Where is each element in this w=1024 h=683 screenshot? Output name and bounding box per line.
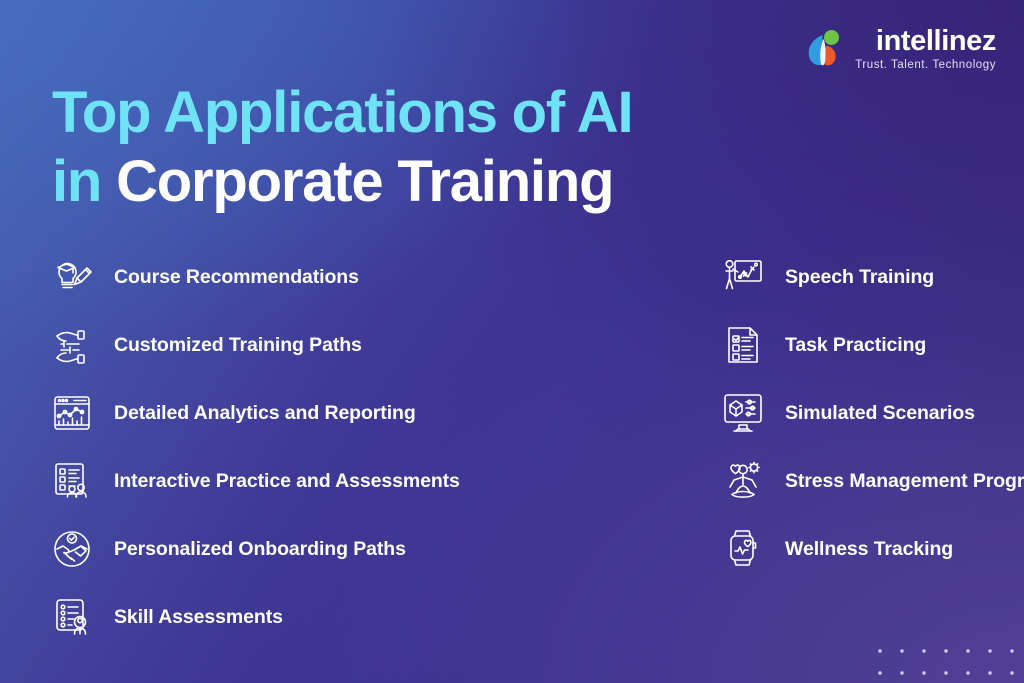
logo-text-block: intellinez Trust. Talent. Technology: [855, 27, 996, 72]
list-item-customized-training-paths[interactable]: Customized Training Paths: [44, 311, 560, 379]
right-column: Speech Training Task: [560, 243, 1000, 651]
list-item-personalized-onboarding-paths[interactable]: Personalized Onboarding Paths: [44, 515, 560, 583]
analytics-dashboard-icon: [44, 385, 100, 441]
title-line-2-prefix: in: [52, 149, 101, 214]
list-item-label: Personalized Onboarding Paths: [114, 538, 406, 561]
list-item-detailed-analytics-and-reporting[interactable]: Detailed Analytics and Reporting: [44, 379, 560, 447]
list-item-interactive-practice-and-assessments[interactable]: Interactive Practice and Assessments: [44, 447, 560, 515]
list-item-label: Simulated Scenarios: [785, 402, 975, 425]
list-item-simulated-scenarios[interactable]: Simulated Scenarios: [715, 379, 1000, 447]
list-item-skill-assessments[interactable]: Skill Assessments: [44, 583, 560, 651]
list-item-course-recommendations[interactable]: Course Recommendations: [44, 243, 560, 311]
page-title: Top Applications of AI in Corporate Trai…: [52, 84, 632, 211]
title-line-2-rest: Corporate Training: [116, 149, 613, 214]
smartwatch-heart-icon: [715, 521, 771, 577]
list-item-label: Wellness Tracking: [785, 538, 953, 561]
list-item-label: Stress Management Programs: [785, 470, 1024, 493]
list-item-label: Interactive Practice and Assessments: [114, 470, 460, 493]
applications-list: Course Recommendations Customized: [0, 243, 1024, 651]
logo-wordmark: intellinez: [876, 27, 996, 56]
list-item-label: Task Practicing: [785, 334, 926, 357]
monitor-simulation-icon: [715, 385, 771, 441]
checklist-people-icon: [44, 453, 100, 509]
left-column: Course Recommendations Customized: [0, 243, 560, 651]
list-item-label: Course Recommendations: [114, 266, 359, 289]
intellinez-petal-logo-icon: [801, 26, 847, 72]
task-document-icon: [715, 317, 771, 373]
meditation-gear-icon: [715, 453, 771, 509]
logo-tagline: Trust. Talent. Technology: [855, 60, 996, 72]
infographic-poster: intellinez Trust. Talent. Technology Top…: [0, 0, 1024, 683]
list-item-stress-management-programs[interactable]: Stress Management Programs: [715, 447, 1000, 515]
list-item-label: Detailed Analytics and Reporting: [114, 402, 416, 425]
title-line-1: Top Applications of AI: [52, 84, 632, 142]
list-item-label: Skill Assessments: [114, 606, 283, 629]
handshake-check-icon: [44, 521, 100, 577]
list-item-task-practicing[interactable]: Task Practicing: [715, 311, 1000, 379]
title-line-2: in Corporate Training: [52, 153, 632, 211]
list-item-wellness-tracking[interactable]: Wellness Tracking: [715, 515, 1000, 583]
hand-sliders-icon: [44, 317, 100, 373]
graduation-bulb-icon: [44, 249, 100, 305]
presenter-board-icon: [715, 249, 771, 305]
skill-profile-list-icon: [44, 589, 100, 645]
list-item-speech-training[interactable]: Speech Training: [715, 243, 1000, 311]
brand-logo[interactable]: intellinez Trust. Talent. Technology: [801, 26, 996, 72]
list-item-label: Speech Training: [785, 266, 934, 289]
list-item-label: Customized Training Paths: [114, 334, 362, 357]
